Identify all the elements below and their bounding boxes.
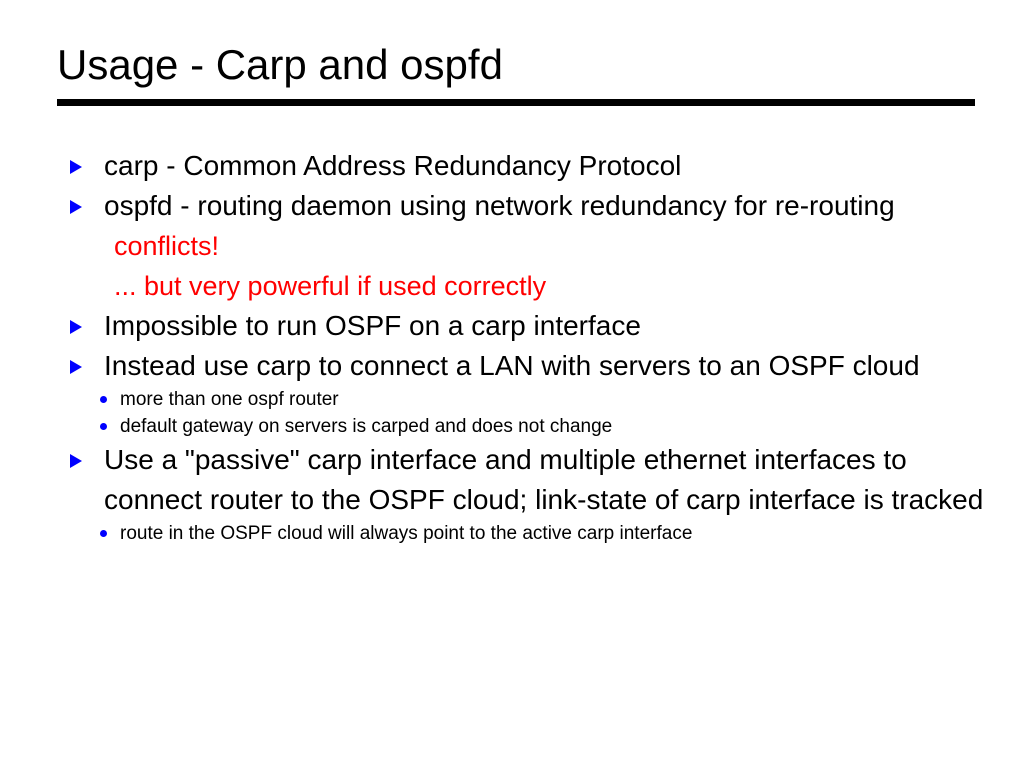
list-item: Use a "passive" carp interface and multi… [0,440,1024,520]
sub-list-item-label: more than one ospf router [120,389,339,410]
list-item-label: Use a "passive" carp interface and multi… [104,440,984,520]
list-item: Impossible to run OSPF on a carp interfa… [0,306,1024,346]
list-item-label: ospfd - routing daemon using network red… [104,186,984,226]
list-item-label: Instead use carp to connect a LAN with s… [104,346,984,386]
sub-list-item: route in the OSPF cloud will always poin… [0,520,1024,547]
highlight-note-label: ... but very powerful if used correctly [114,271,546,301]
sub-list-item-label: default gateway on servers is carped and… [120,416,612,437]
dot-icon [100,413,114,430]
list-item-label: Impossible to run OSPF on a carp interfa… [104,306,984,346]
sub-list-item-label: route in the OSPF cloud will always poin… [120,523,692,544]
slide-body: carp - Common Address Redundancy Protoco… [0,146,1024,547]
slide: Usage - Carp and ospfd carp - Common Add… [0,0,1024,768]
slide-title-block: Usage - Carp and ospfd [57,40,975,90]
highlight-note: conflicts! [0,226,1024,266]
sub-list-item: default gateway on servers is carped and… [0,413,1024,440]
title-divider [57,99,975,106]
sub-list-item: more than one ospf router [0,386,1024,413]
list-item: carp - Common Address Redundancy Protoco… [0,146,1024,186]
list-item: Instead use carp to connect a LAN with s… [0,346,1024,386]
dot-icon [100,386,114,403]
list-item: ospfd - routing daemon using network red… [0,186,1024,226]
triangle-right-icon [68,306,92,335]
highlight-note-label: conflicts! [114,231,219,261]
triangle-right-icon [68,186,92,215]
page-title: Usage - Carp and ospfd [57,40,975,90]
highlight-note: ... but very powerful if used correctly [0,266,1024,306]
list-item-label: carp - Common Address Redundancy Protoco… [104,146,984,186]
dot-icon [100,520,114,537]
triangle-right-icon [68,440,92,469]
triangle-right-icon [68,146,92,175]
triangle-right-icon [68,346,92,375]
